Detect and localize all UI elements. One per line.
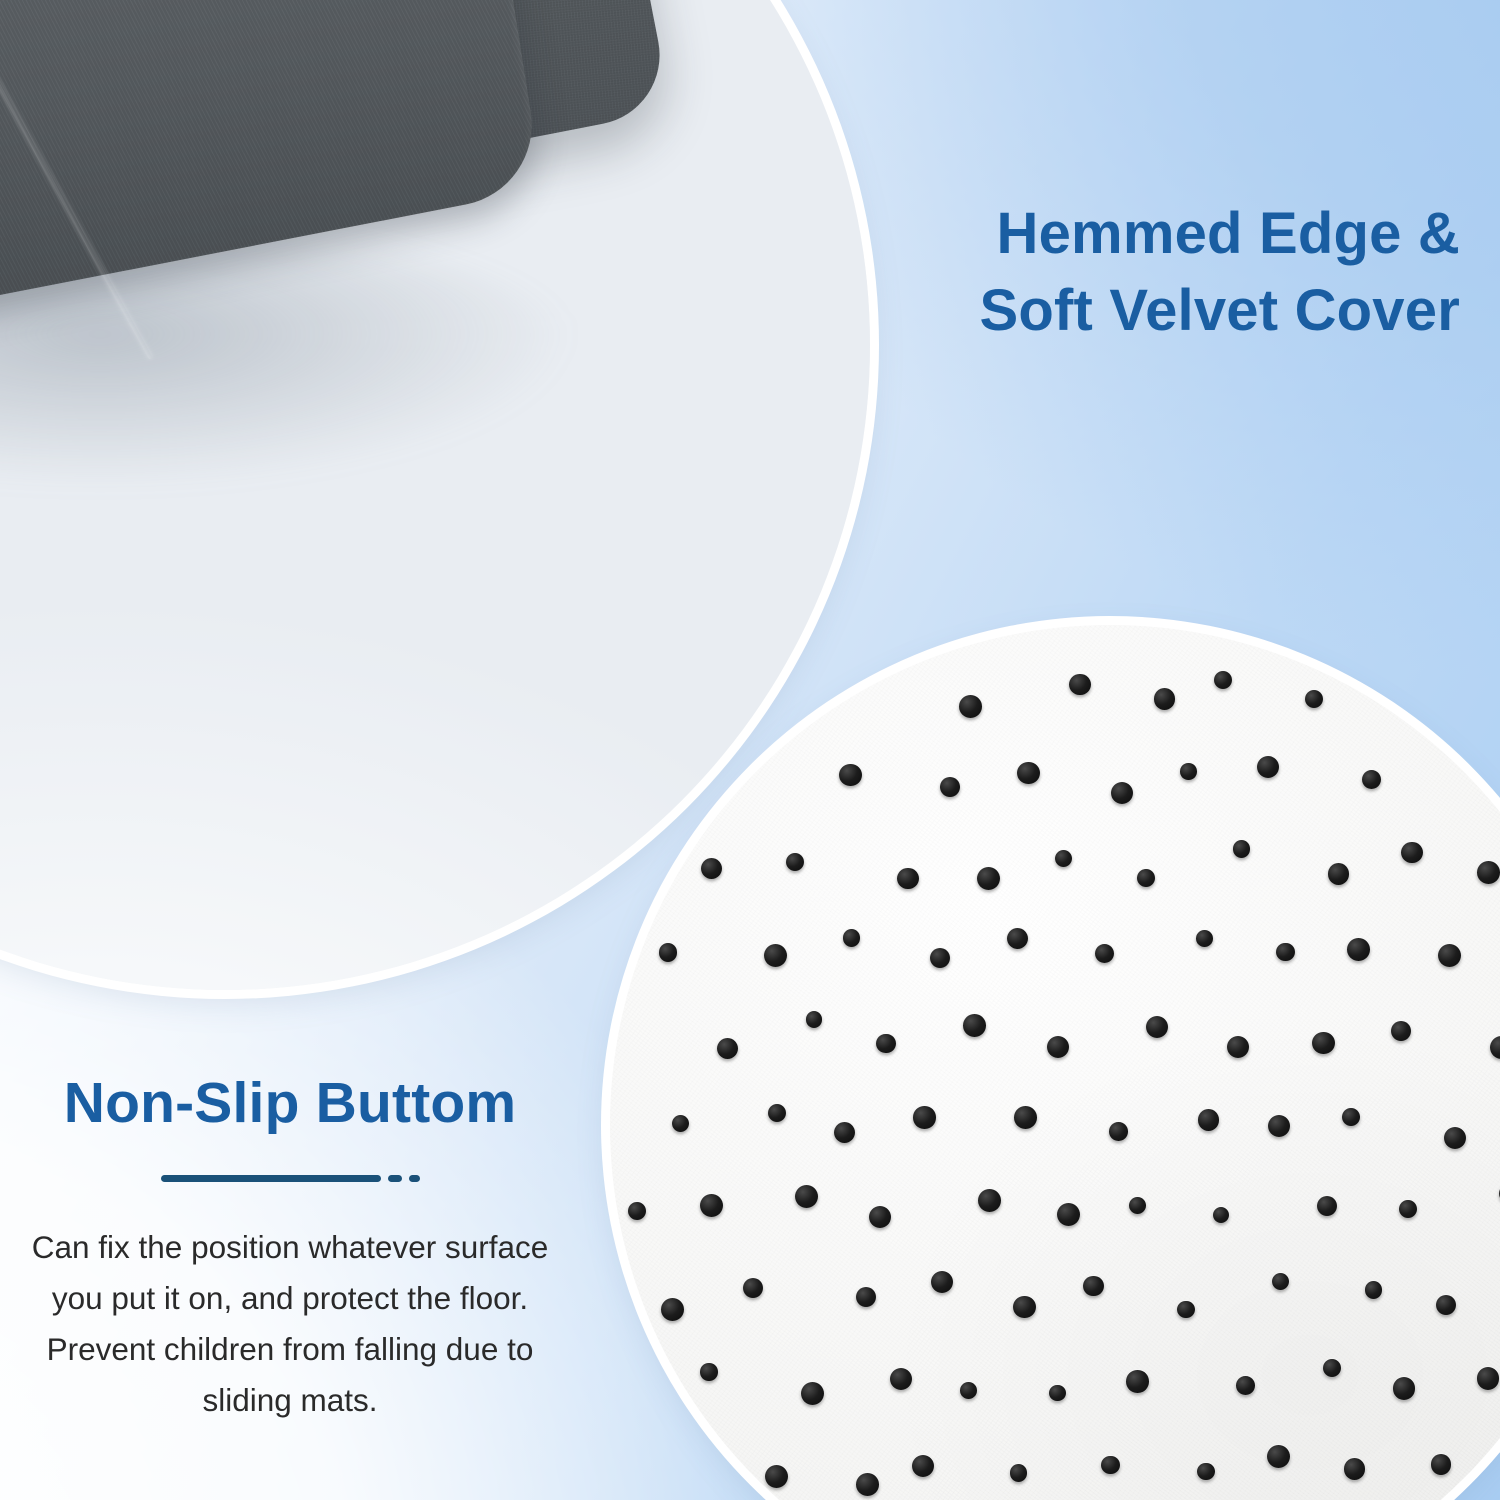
silicone-grip-dot bbox=[834, 1122, 855, 1143]
silicone-grip-dot bbox=[661, 1298, 684, 1321]
silicone-grip-dot bbox=[940, 777, 960, 797]
silicone-grip-dot bbox=[839, 764, 862, 787]
silicone-grip-dot bbox=[959, 695, 982, 718]
heading-divider bbox=[0, 1175, 580, 1182]
silicone-grip-dot bbox=[897, 868, 918, 889]
silicone-grip-dot bbox=[1312, 1032, 1335, 1055]
silicone-grip-dot bbox=[806, 1011, 823, 1028]
silicone-grip-dot bbox=[1196, 930, 1213, 947]
silicone-grip-dot bbox=[931, 1271, 953, 1293]
silicone-grip-dot bbox=[628, 1202, 646, 1220]
silicone-grip-dot bbox=[717, 1038, 739, 1060]
non-slip-mat-photo-circle: IL❀PEOD⁀ IL❀PEOD⁀ IL❀PEOD⁀ bbox=[610, 625, 1500, 1500]
silicone-grip-dot bbox=[1137, 869, 1155, 887]
silicone-grip-dot bbox=[1344, 1458, 1366, 1480]
silicone-grip-dot bbox=[960, 1382, 977, 1399]
silicone-grip-dot bbox=[1049, 1385, 1066, 1402]
silicone-grip-dot bbox=[912, 1455, 934, 1477]
silicone-grip-dot bbox=[1014, 1106, 1037, 1129]
silicone-grip-dot bbox=[1129, 1197, 1146, 1214]
silicone-grip-dot bbox=[869, 1206, 891, 1228]
silicone-grip-dot bbox=[1272, 1273, 1289, 1290]
divider-line bbox=[161, 1175, 381, 1182]
hemmed-edge-heading: Hemmed Edge & Soft Velvet Cover bbox=[840, 196, 1460, 349]
silicone-grip-dot bbox=[856, 1473, 879, 1496]
silicone-grip-dot bbox=[1323, 1359, 1341, 1377]
silicone-grip-dot bbox=[1057, 1203, 1080, 1226]
silicone-grip-dot bbox=[768, 1104, 786, 1122]
silicone-grip-dot bbox=[1347, 938, 1370, 961]
silicone-grip-dot bbox=[1431, 1454, 1451, 1474]
silicone-grip-dot bbox=[801, 1382, 824, 1405]
silicone-grip-dot bbox=[977, 867, 1000, 890]
silicone-grip-dot bbox=[1198, 1109, 1219, 1130]
silicone-grip-dot bbox=[1342, 1108, 1360, 1126]
silicone-grip-dot bbox=[1477, 861, 1500, 884]
silicone-grip-dot bbox=[1007, 928, 1028, 949]
silicone-grip-dot bbox=[795, 1185, 818, 1208]
non-slip-mat-felt-surface: IL❀PEOD⁀ IL❀PEOD⁀ IL❀PEOD⁀ bbox=[610, 625, 1500, 1500]
silicone-grip-dot bbox=[1047, 1036, 1069, 1058]
silicone-grip-dot bbox=[1180, 763, 1197, 780]
product-feature-canvas: IL❀PEOD⁀ IL❀PEOD⁀ IL❀PEOD⁀ Hemmed Edge &… bbox=[0, 0, 1500, 1500]
silicone-grip-dot bbox=[930, 948, 950, 968]
silicone-grip-dot bbox=[1154, 688, 1175, 709]
silicone-grip-dot bbox=[1126, 1370, 1149, 1393]
silicone-grip-dot bbox=[1146, 1016, 1168, 1038]
silicone-grip-dot bbox=[913, 1106, 935, 1128]
silicone-grip-dot bbox=[1013, 1296, 1036, 1319]
silicone-grip-dot bbox=[1399, 1200, 1417, 1218]
silicone-grip-dot bbox=[1477, 1367, 1500, 1390]
silicone-grip-dot bbox=[1069, 674, 1091, 696]
silicone-grip-dot bbox=[843, 929, 861, 947]
silicone-grip-dot bbox=[876, 1034, 895, 1053]
silicone-grip-dot bbox=[1401, 842, 1423, 864]
silicone-grip-dot bbox=[1213, 1207, 1229, 1223]
silicone-grip-dot bbox=[1391, 1021, 1411, 1041]
silicone-grip-dot bbox=[890, 1368, 912, 1390]
non-slip-description: Can fix the position whatever surface yo… bbox=[0, 1222, 580, 1426]
silicone-grip-dot bbox=[1236, 1376, 1255, 1395]
silicone-grip-dot bbox=[978, 1189, 1001, 1212]
silicone-grip-dot bbox=[1095, 944, 1114, 963]
silicone-grip-dot bbox=[1101, 1456, 1120, 1475]
silicone-grip-dot bbox=[1268, 1115, 1290, 1137]
divider-dash bbox=[388, 1175, 402, 1182]
silicone-grip-dot bbox=[1083, 1276, 1104, 1297]
silicone-grip-dot bbox=[1393, 1377, 1415, 1399]
silicone-grip-dot bbox=[764, 944, 787, 967]
silicone-grip-dot bbox=[1257, 756, 1279, 778]
silicone-grip-dot bbox=[1317, 1196, 1337, 1216]
silicone-grip-dot bbox=[700, 1194, 723, 1217]
silicone-grip-dot bbox=[1362, 770, 1381, 789]
silicone-grip-dot bbox=[1436, 1295, 1456, 1315]
silicone-grip-dot bbox=[1444, 1127, 1466, 1149]
silicone-grip-dot bbox=[1365, 1281, 1383, 1299]
silicone-grip-dot bbox=[700, 1363, 717, 1380]
silicone-grip-dot bbox=[1267, 1445, 1290, 1468]
silicone-grip-dot bbox=[856, 1287, 876, 1307]
silicone-grip-dot bbox=[1490, 1036, 1500, 1059]
silicone-grip-dot bbox=[786, 853, 804, 871]
silicone-grip-dot bbox=[1214, 671, 1232, 689]
silicone-grip-dot bbox=[701, 858, 722, 879]
non-slip-heading: Non-Slip Buttom bbox=[0, 1072, 580, 1135]
silicone-grip-dot bbox=[1276, 943, 1295, 962]
non-slip-feature-block: Non-Slip Buttom Can fix the position wha… bbox=[0, 1072, 580, 1426]
silicone-grip-dot bbox=[1438, 944, 1461, 967]
silicone-grip-dot bbox=[1227, 1036, 1249, 1058]
silicone-grip-dot bbox=[743, 1278, 763, 1298]
silicone-grip-dot bbox=[1109, 1122, 1128, 1141]
silicone-grip-dot bbox=[1055, 850, 1072, 867]
silicone-grip-dot bbox=[1010, 1464, 1028, 1482]
silicone-grip-dot bbox=[672, 1115, 689, 1132]
silicone-grip-dot bbox=[1111, 782, 1133, 804]
silicone-grip-dot bbox=[1305, 690, 1323, 708]
hemmed-edge-heading-line1: Hemmed Edge & bbox=[840, 196, 1460, 273]
silicone-grip-dot bbox=[1328, 863, 1349, 884]
silicone-grip-dot bbox=[1017, 762, 1040, 785]
silicone-grip-dot bbox=[963, 1014, 986, 1037]
silicone-grip-dot bbox=[1233, 840, 1250, 857]
silicone-grip-dot bbox=[659, 943, 678, 962]
silicone-grip-dot bbox=[1197, 1463, 1215, 1481]
silicone-grip-dot bbox=[765, 1465, 788, 1488]
divider-dash bbox=[409, 1175, 420, 1182]
silicone-grip-dot bbox=[1177, 1301, 1195, 1319]
hemmed-edge-heading-line2: Soft Velvet Cover bbox=[840, 273, 1460, 350]
